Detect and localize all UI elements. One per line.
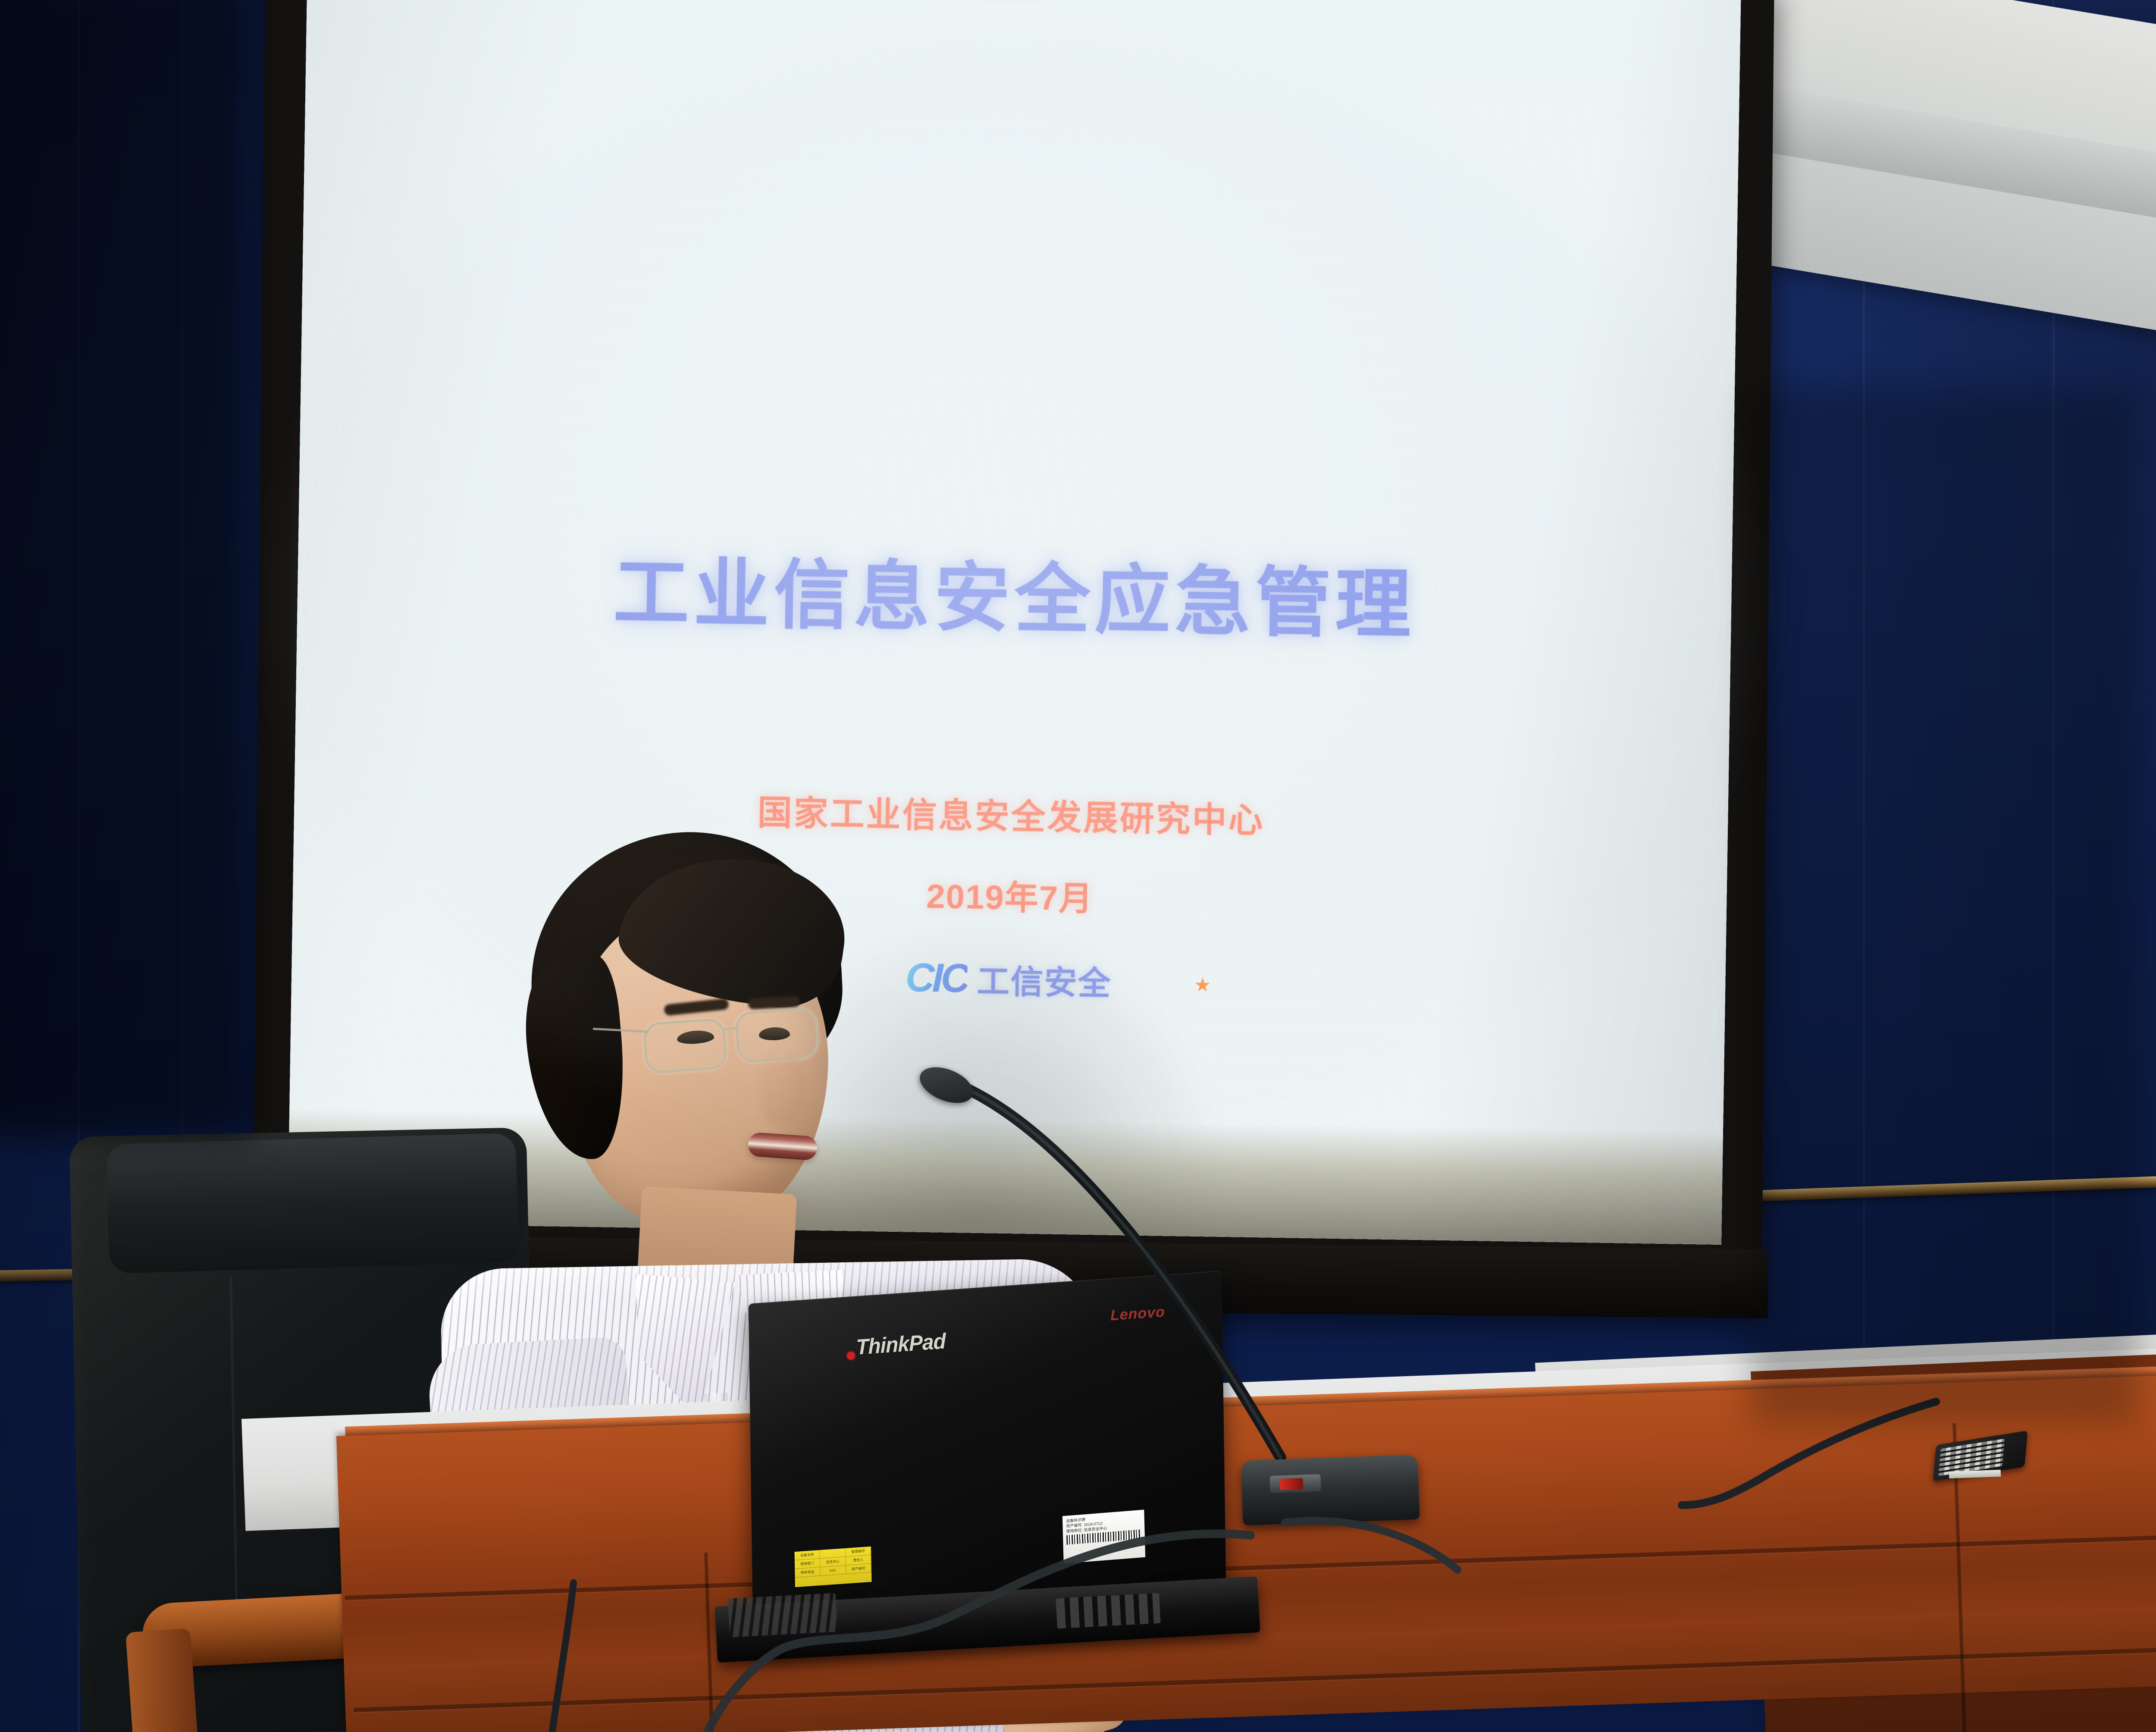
- microphone-led-left: [1280, 1478, 1304, 1490]
- microphone-left-gooseneck: [884, 1070, 1401, 1501]
- photo-stage: 工业信息安全应急管理 国家工业信息安全发展研究中心 2019年7月 CIC 工信…: [0, 0, 2156, 1732]
- eyeglasses-icon: [640, 1004, 843, 1083]
- speaker-nose: [759, 1048, 806, 1126]
- speaker-mouth: [747, 1132, 818, 1161]
- chair-wood-post: [125, 1628, 198, 1732]
- ambient-shadow: [0, 0, 250, 1139]
- ambient-shadow: [1751, 388, 2139, 1423]
- thinkpad-red-dot-icon: [847, 1352, 855, 1360]
- desk-cables: [388, 1509, 1509, 1732]
